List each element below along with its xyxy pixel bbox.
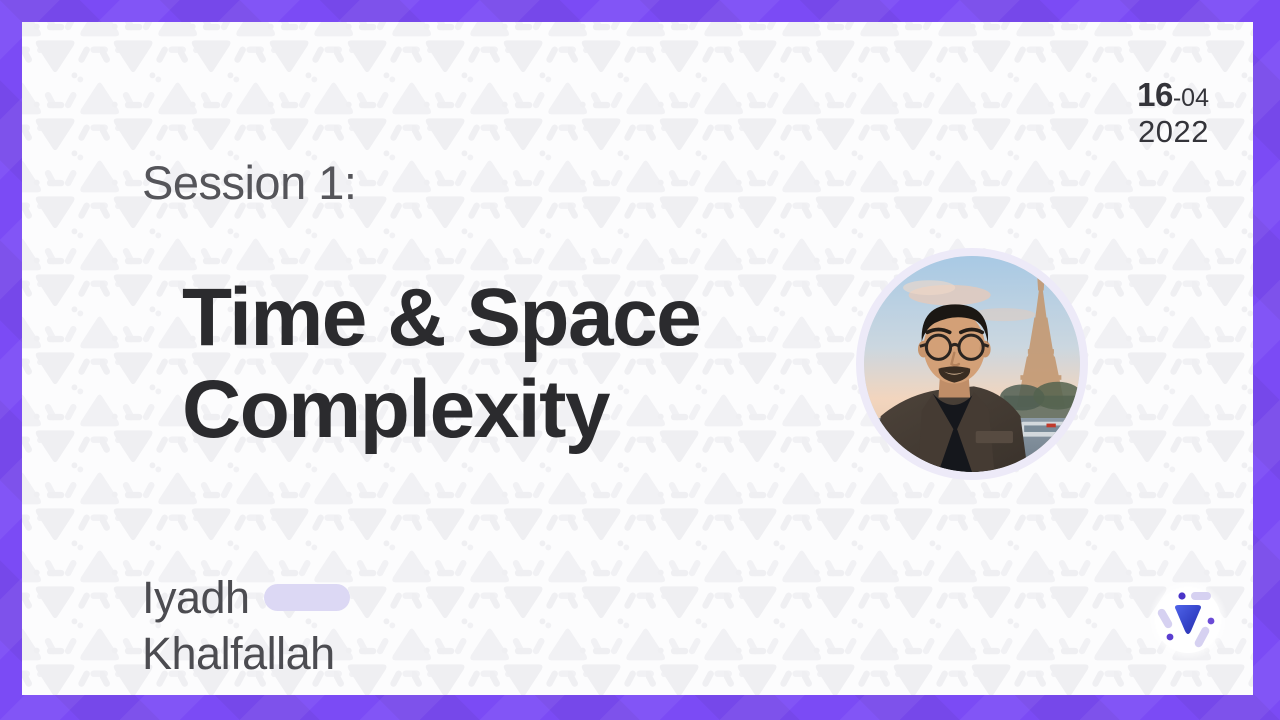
redacted-name-pill [264, 584, 350, 611]
title-line-2: Complexity [182, 364, 802, 456]
date-year: 2022 [1137, 116, 1209, 149]
page-title: Time & Space Complexity [182, 272, 802, 456]
title-line-1: Time & Space [182, 272, 802, 364]
date-day: 16 [1137, 76, 1173, 113]
date-day-month: 16-04 [1137, 78, 1209, 113]
brand-logo [1142, 574, 1234, 666]
slide-frame: 16-04 2022 Session 1: Time & Space Compl… [0, 0, 1280, 720]
presenter-name: Iyadh Khalfallah [142, 570, 350, 682]
presenter-first-name-row: Iyadh [142, 570, 350, 626]
avatar [856, 248, 1088, 480]
session-label: Session 1: [142, 155, 356, 210]
presenter-first-name: Iyadh [142, 570, 250, 626]
slide-card: 16-04 2022 Session 1: Time & Space Compl… [22, 22, 1253, 695]
slide-date: 16-04 2022 [1137, 78, 1209, 148]
avatar-photo [864, 256, 1080, 472]
date-month: -04 [1173, 84, 1209, 112]
presenter-last-name: Khalfallah [142, 626, 350, 682]
